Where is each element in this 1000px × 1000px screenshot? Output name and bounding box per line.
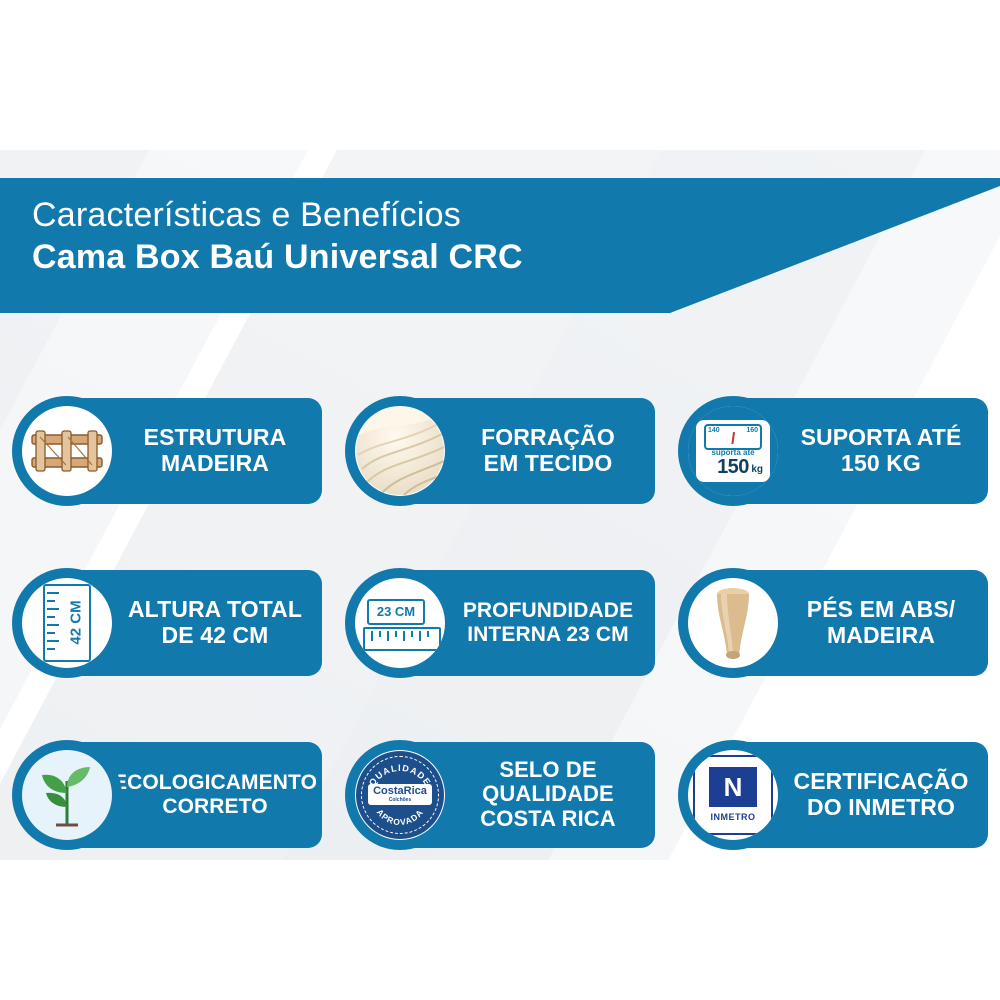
scale-unit: kg: [751, 464, 763, 475]
feature-label: SELO DE QUALIDADE COSTA RICA: [480, 758, 615, 832]
scale-dial-left: 140: [708, 427, 720, 434]
seal-brand-sub: Colchões: [373, 797, 427, 803]
ruler-vertical-icon: 42 CM: [22, 578, 112, 668]
seal-bottom-text: APROVADA: [375, 807, 426, 827]
ruler-horizontal-value: 23 CM: [377, 604, 415, 619]
feature-forracao-em-tecido: FORRAÇÃO EM TECIDO: [345, 398, 675, 504]
features-grid: ESTRUTURA MADEIRA: [12, 368, 988, 877]
top-white-strip: [0, 0, 1000, 150]
feature-altura-total-42-cm: ALTURA TOTAL DE 42 CM 42 CM: [12, 570, 342, 676]
feature-label: PÉS EM ABS/ MADEIRA: [807, 597, 956, 649]
feature-badge: N INMETRO: [678, 740, 788, 850]
feature-selo-de-qualidade-costa-rica: SELO DE QUALIDADE COSTA RICA QUALIDADE: [345, 742, 675, 848]
inmetro-icon: N INMETRO: [688, 750, 778, 840]
infographic-page: Características e Benefícios Cama Box Ba…: [0, 0, 1000, 1000]
feature-badge: 42 CM: [12, 568, 122, 678]
wood-frame-icon: [22, 406, 112, 496]
feature-label: SUPORTA ATÉ 150 KG: [801, 425, 962, 477]
scale-dial-right: 160: [746, 427, 758, 434]
plant-sprout-icon: [22, 750, 112, 840]
inmetro-mark: N: [724, 774, 743, 800]
feature-label: FORRAÇÃO EM TECIDO: [481, 425, 615, 477]
feature-badge: [12, 740, 122, 850]
scale-icon: 140 160 suporta até 150 kg: [688, 406, 778, 496]
header-text-block: Características e Benefícios Cama Box Ba…: [32, 196, 523, 276]
feature-label: CERTIFICAÇÃO DO INMETRO: [794, 769, 969, 821]
ruler-horizontal-icon: 23 CM: [355, 578, 445, 668]
header-subtitle: Cama Box Baú Universal CRC: [32, 238, 523, 276]
quality-seal-icon: QUALIDADE APROVADA CostaRica Colchões: [355, 750, 445, 840]
header-title: Características e Benefícios: [32, 196, 523, 234]
feature-badge: 23 CM: [345, 568, 455, 678]
feature-badge: QUALIDADE APROVADA CostaRica Colchões: [345, 740, 455, 850]
feature-certificacao-do-inmetro: CERTIFICAÇÃO DO INMETRO N INMETRO: [678, 742, 1000, 848]
feature-label: PROFUNDIDADE INTERNA 23 CM: [463, 599, 633, 646]
feature-ecologicamente-correto: ECOLOGICAMENTO CORRETO: [12, 742, 342, 848]
feature-label: ESTRUTURA MADEIRA: [144, 425, 287, 477]
feature-label: ALTURA TOTAL DE 42 CM: [128, 597, 302, 649]
feature-profundidade-interna-23-cm: PROFUNDIDADE INTERNA 23 CM 23 CM: [345, 570, 675, 676]
feature-pes-em-abs-madeira: PÉS EM ABS/ MADEIRA: [678, 570, 1000, 676]
inmetro-name: INMETRO: [711, 812, 756, 822]
feature-badge: [345, 396, 455, 506]
header-banner: Características e Benefícios Cama Box Ba…: [0, 178, 1000, 313]
furniture-foot-icon: [688, 578, 778, 668]
feature-badge: 140 160 suporta até 150 kg: [678, 396, 788, 506]
feature-suporta-ate-150-kg: SUPORTA ATÉ 150 KG 140 160 suporta até 1…: [678, 398, 1000, 504]
feature-badge: [12, 396, 122, 506]
seal-brand: CostaRica: [373, 786, 427, 797]
ruler-vertical-value: 42 CM: [68, 600, 85, 644]
feature-label: ECOLOGICAMENTO CORRETO: [113, 771, 317, 818]
feature-estrutura-madeira: ESTRUTURA MADEIRA: [12, 398, 342, 504]
bottom-white-strip: [0, 860, 1000, 1000]
svg-text:APROVADA: APROVADA: [375, 807, 426, 827]
fabric-icon: [355, 406, 445, 496]
feature-badge: [678, 568, 788, 678]
